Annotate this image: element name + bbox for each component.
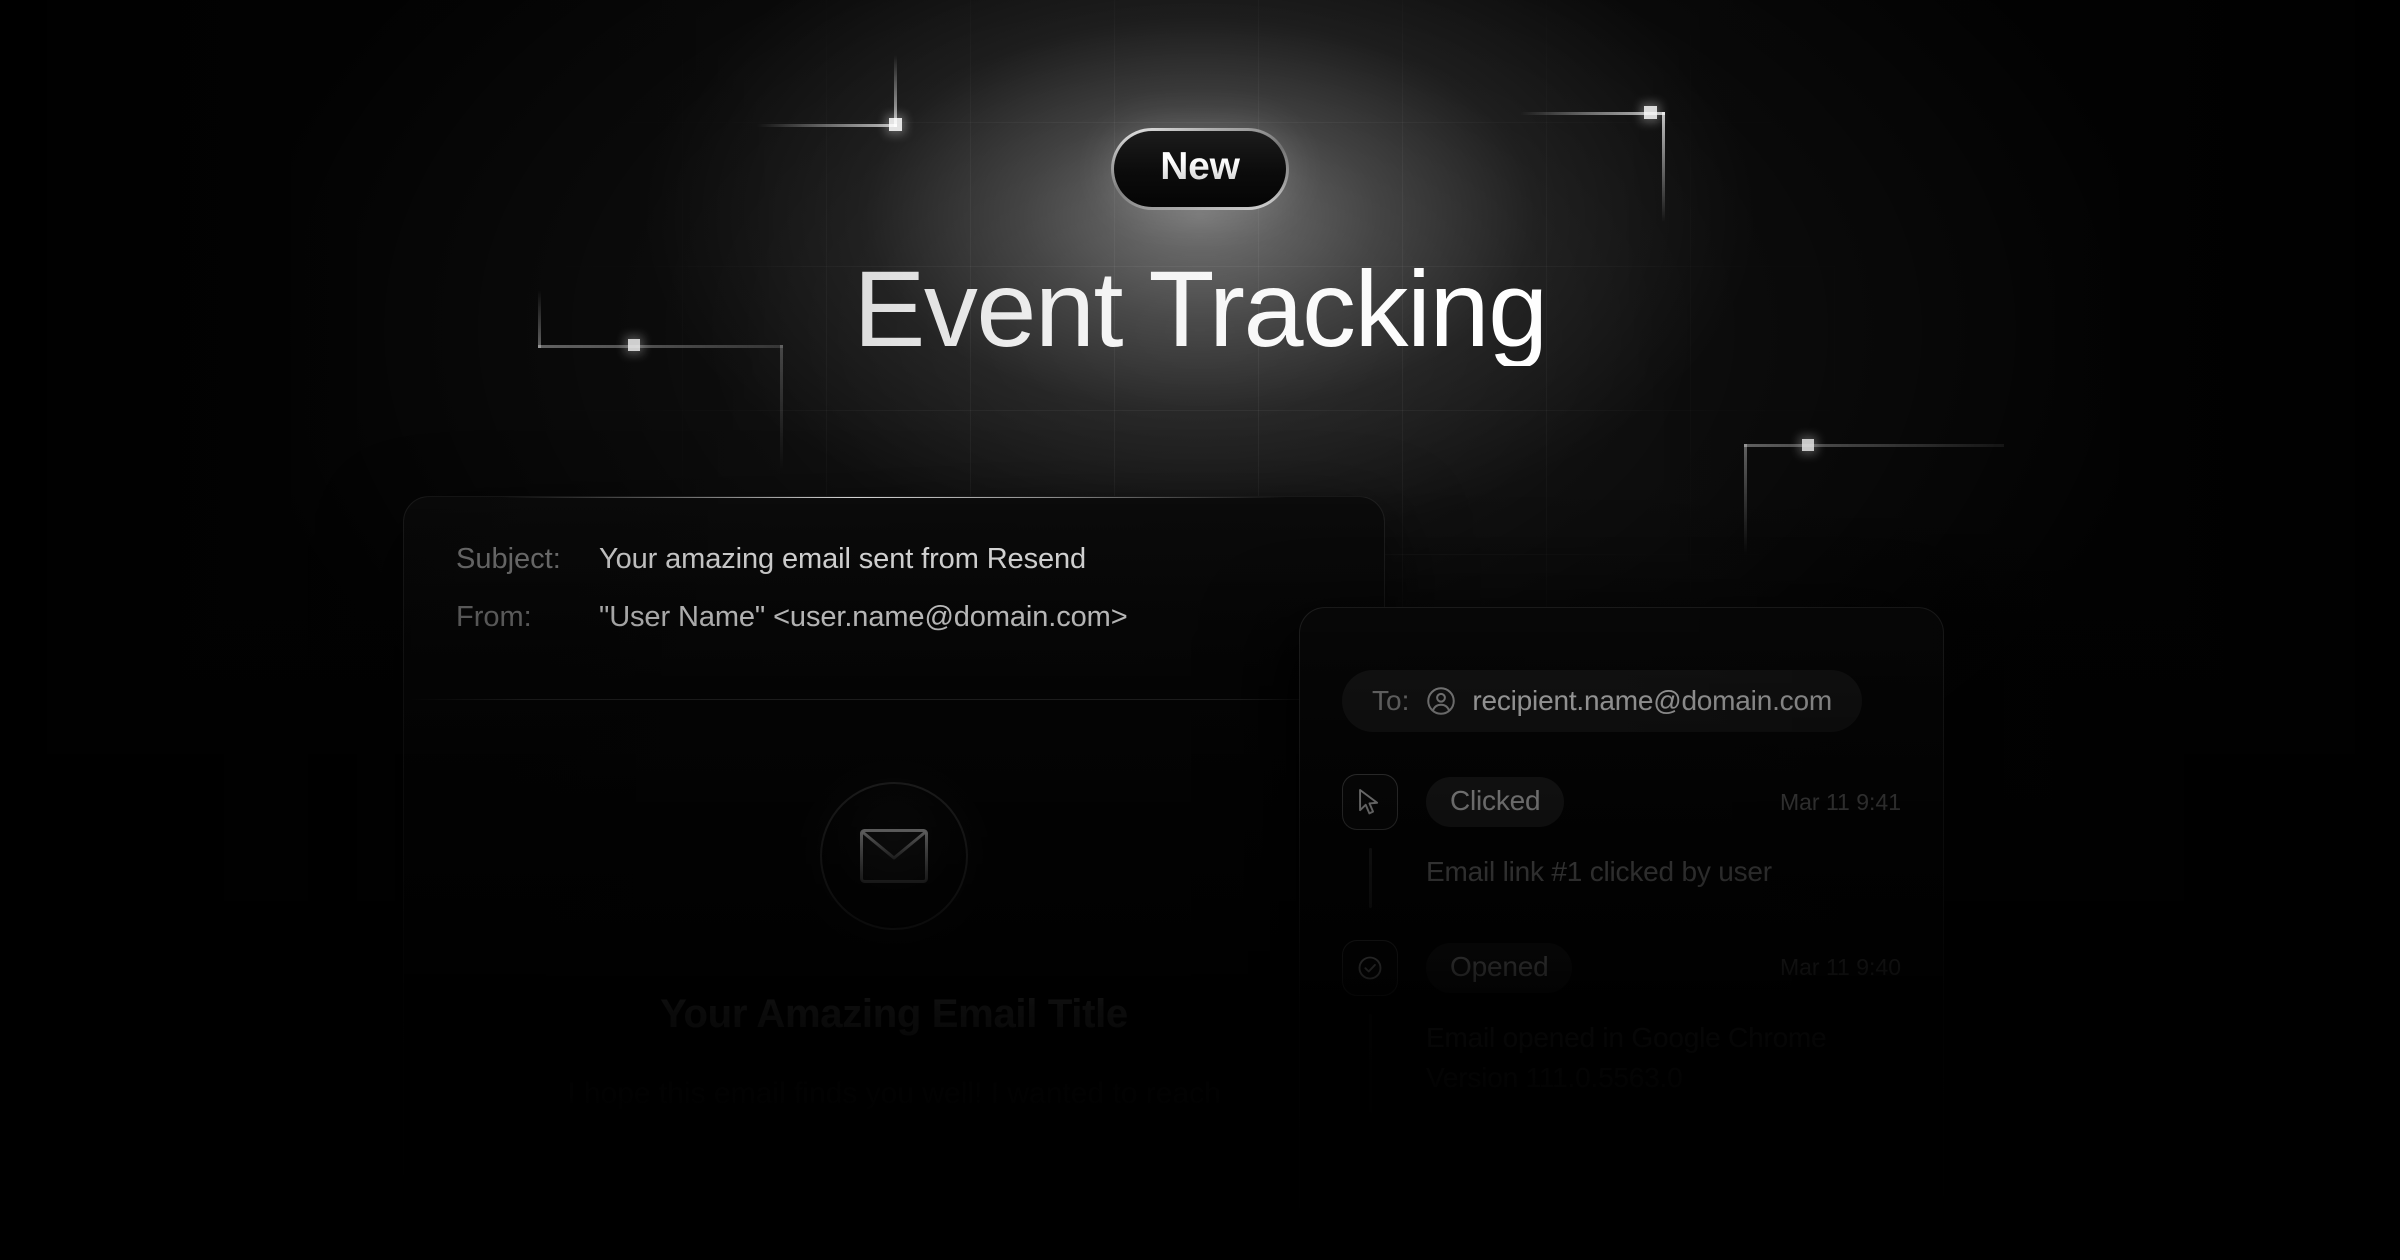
event-list-item-opened[interactable]: Opened Mar 11 9:40 Email opened in Googl… <box>1342 940 1913 1098</box>
new-badge-label: New <box>1160 145 1240 188</box>
hero-section: New Event Tracking Subject: Your amazing… <box>0 0 2400 1260</box>
event-description: Email opened in Google Chrome Version 11… <box>1426 1018 1913 1098</box>
timeline-connector <box>1369 848 1372 908</box>
cursor-icon <box>1342 774 1398 830</box>
email-subject-label: Subject: <box>456 543 599 576</box>
email-body: Your Amazing Email Title I hope this ema… <box>404 700 1384 1196</box>
event-header: Opened Mar 11 9:40 <box>1426 940 1913 996</box>
email-from-label: From: <box>456 601 599 634</box>
email-preview-card: Subject: Your amazing email sent from Re… <box>403 496 1385 1196</box>
email-meta: Subject: Your amazing email sent from Re… <box>404 497 1384 634</box>
email-body-title: Your Amazing Email Title <box>404 992 1384 1037</box>
check-circle-icon <box>1342 940 1398 996</box>
to-label: To: <box>1372 685 1409 717</box>
event-header: Clicked Mar 11 9:41 <box>1426 774 1913 830</box>
hero-content: New Event Tracking <box>0 128 2400 366</box>
email-subject-value: Your amazing email sent from Resend <box>599 543 1086 576</box>
email-from-row: From: "User Name" <user.name@domain.com> <box>456 601 1384 634</box>
event-timestamp: Mar 11 9:41 <box>1780 789 1913 816</box>
recipient-email: recipient.name@domain.com <box>1472 685 1832 717</box>
recipient-chip[interactable]: To: recipient.name@domain.com <box>1342 670 1862 732</box>
email-subject-row: Subject: Your amazing email sent from Re… <box>456 543 1384 576</box>
email-from-value: "User Name" <user.name@domain.com> <box>599 601 1128 634</box>
event-tracking-panel: To: recipient.name@domain.com <box>1299 607 1944 1260</box>
envelope-icon <box>820 782 968 930</box>
status-badge: Clicked <box>1426 777 1564 827</box>
timeline-connector <box>1369 1014 1372 1114</box>
page-title: Event Tracking <box>0 252 2400 366</box>
email-body-paragraph: I hope this email finds you well! I want… <box>404 1071 1384 1118</box>
event-description: Email link #1 clicked by user <box>1426 852 1913 892</box>
status-badge: Opened <box>1426 943 1572 993</box>
person-icon <box>1426 686 1456 716</box>
event-list: Clicked Mar 11 9:41 Email link #1 clicke… <box>1342 774 1913 1097</box>
event-timestamp: Mar 11 9:40 <box>1780 954 1913 981</box>
event-list-item-clicked[interactable]: Clicked Mar 11 9:41 Email link #1 clicke… <box>1342 774 1913 892</box>
new-badge: New <box>1111 128 1289 210</box>
